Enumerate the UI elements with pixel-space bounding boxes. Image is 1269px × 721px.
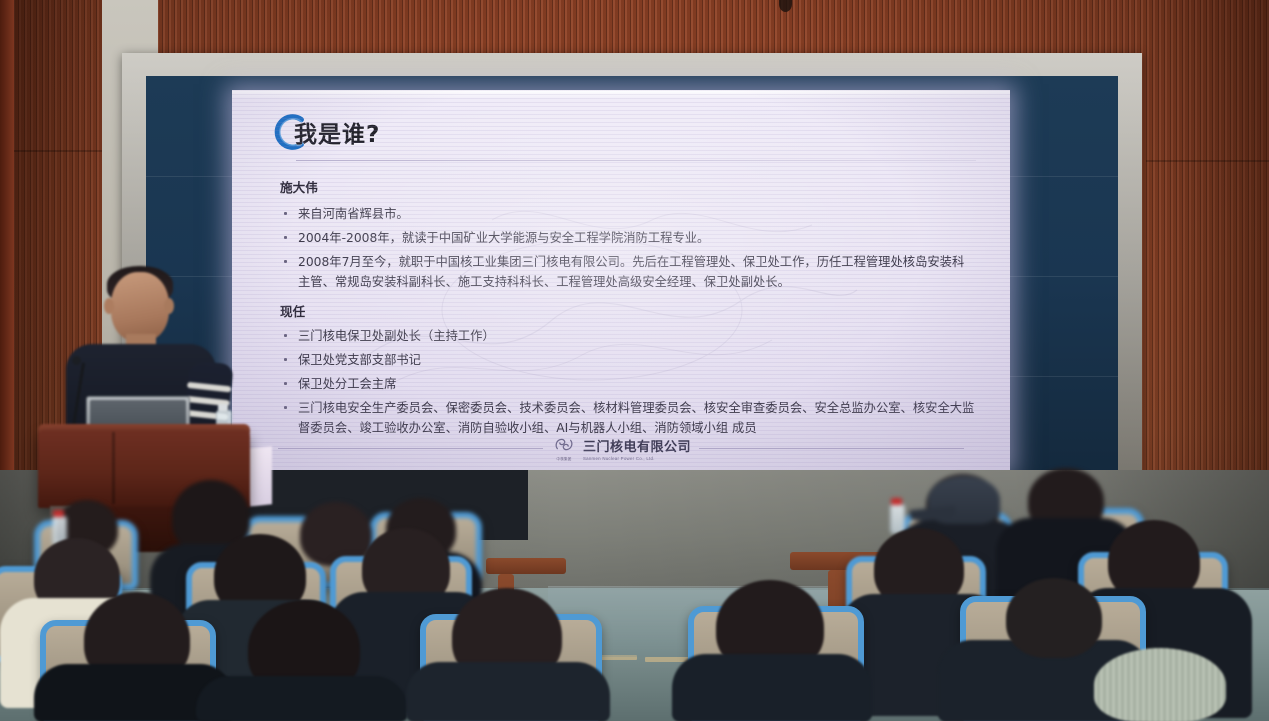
footer-rule-left: [278, 448, 543, 449]
slide-title: 我是谁?: [278, 116, 976, 154]
audience-body: [196, 676, 408, 721]
audience-body: [406, 662, 610, 721]
podium-edge: [112, 432, 115, 504]
projection-screen: 我是谁? 施大伟 来自河南省辉县市。 2004年-2008年，就读于中国矿业大学…: [232, 90, 1010, 471]
logo-company-en: Sanmen Nuclear Power Co., Ltd.: [583, 456, 691, 461]
bottle-cap: [891, 498, 902, 505]
slide-title-row: 我是谁?: [278, 116, 976, 156]
cnnc-logo-icon: 中核集团: [551, 437, 577, 459]
logo-company-cn: 三门核电有限公司: [583, 436, 691, 455]
presenter-ear: [164, 298, 174, 314]
logo-group-text: 中核集团: [551, 457, 577, 462]
list-item: 2008年7月至今，就职于中国核工业集团三门核电有限公司。先后在工程管理处、保卫…: [278, 252, 976, 292]
list-item: 保卫处党支部支部书记: [278, 350, 976, 370]
bottle-cap: [53, 510, 64, 517]
list-item: 保卫处分工会主席: [278, 374, 976, 394]
list-item: 三门核电安全生产委员会、保密委员会、技术委员会、核材料管理委员会、核安全审查委员…: [278, 398, 976, 438]
company-logo: 中核集团 三门核电有限公司 Sanmen Nuclear Power Co., …: [551, 436, 691, 461]
current-roles-heading: 现任: [280, 302, 976, 322]
list-item: 三门核电保卫处副处长（主持工作）: [278, 326, 976, 346]
presenter-head: [111, 272, 169, 342]
list-item: 来自河南省辉县市。: [278, 204, 976, 224]
history-bullet-list: 来自河南省辉县市。 2004年-2008年，就读于中国矿业大学能源与安全工程学院…: [278, 204, 976, 292]
presenter-ear: [104, 298, 114, 314]
title-divider: [296, 160, 976, 161]
slide-body: 施大伟 来自河南省辉县市。 2004年-2008年，就读于中国矿业大学能源与安全…: [278, 178, 976, 438]
bottle-cap: [218, 404, 228, 411]
presenter-name-heading: 施大伟: [280, 178, 976, 198]
footer-rule-right: [699, 448, 964, 449]
list-item: 2004年-2008年，就读于中国矿业大学能源与安全工程学院消防工程专业。: [278, 228, 976, 248]
microphone-icon: [72, 356, 81, 365]
current-roles-bullet-list: 三门核电保卫处副处长（主持工作） 保卫处党支部支部书记 保卫处分工会主席 三门核…: [278, 326, 976, 438]
slide-footer-logo-strip: 中核集团 三门核电有限公司 Sanmen Nuclear Power Co., …: [278, 435, 964, 461]
audience-head: [1006, 578, 1102, 658]
wall-seam: [1146, 160, 1269, 162]
desk-rail: [486, 558, 566, 574]
lecture-hall-photo: 我是谁? 施大伟 来自河南省辉县市。 2004年-2008年，就读于中国矿业大学…: [0, 0, 1269, 721]
audience-body: [672, 654, 872, 721]
beanie-hat-icon: [1094, 648, 1226, 721]
left-pillar: [0, 0, 14, 500]
